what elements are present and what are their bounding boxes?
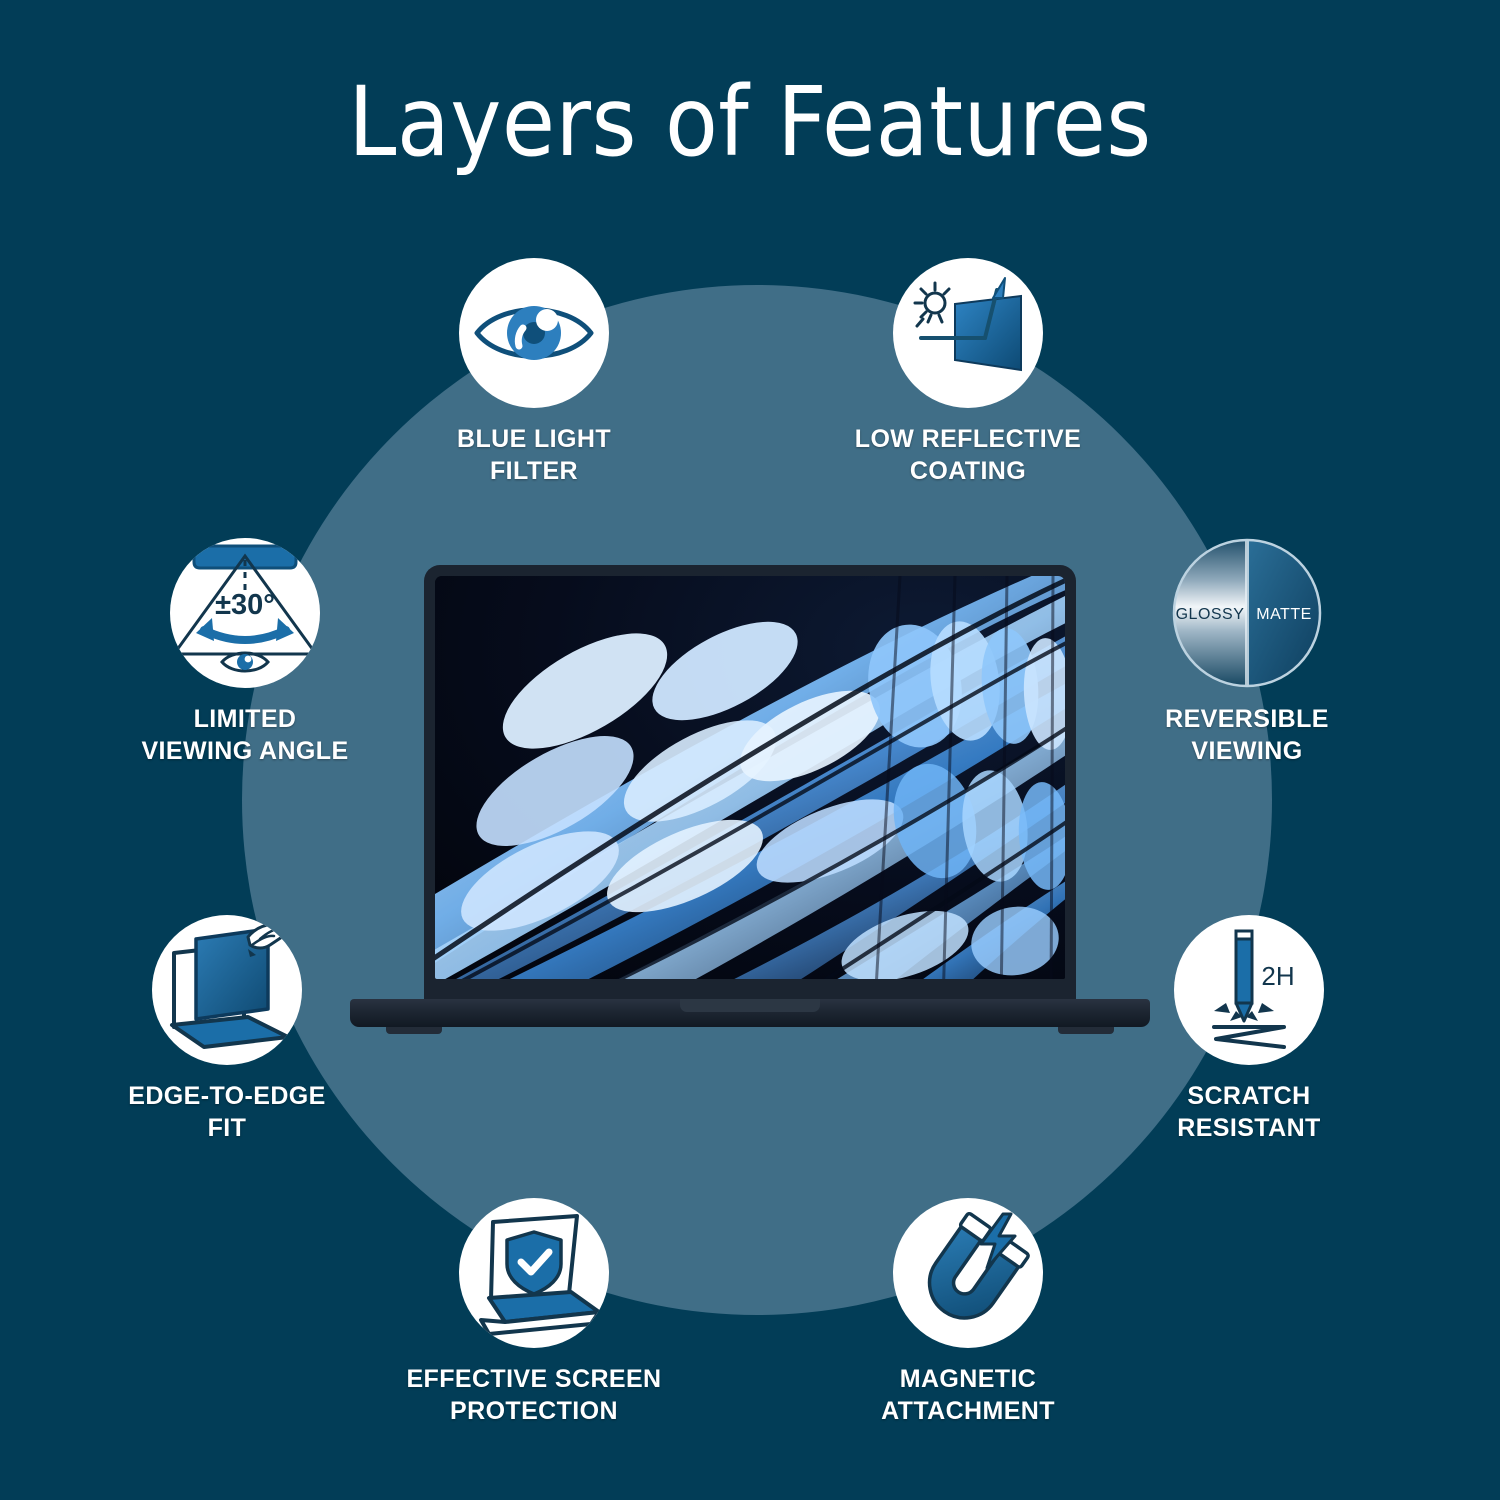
sun-reflection-screen-icon <box>893 258 1043 408</box>
glossy-label: GLOSSY <box>1176 606 1245 623</box>
feature-magnetic-attachment[interactable]: MAGNETIC ATTACHMENT <box>818 1198 1118 1427</box>
infographic-canvas: Layers of Features <box>0 0 1500 1500</box>
angle-value: ±30° <box>215 589 275 621</box>
badge-circle: GLOSSY MATTE <box>1172 538 1322 688</box>
feature-label: LIMITED VIEWING ANGLE <box>95 704 395 767</box>
hardness-value: 2H <box>1261 961 1294 991</box>
feature-label: EFFECTIVE SCREEN PROTECTION <box>384 1364 684 1427</box>
badge-circle <box>893 258 1043 408</box>
feature-label: LOW REFLECTIVE COATING <box>818 424 1118 487</box>
laptop-shield-check-icon <box>459 1198 609 1348</box>
matte-label: MATTE <box>1256 606 1312 623</box>
badge-circle <box>459 1198 609 1348</box>
page-title: Layers of Features <box>0 72 1500 173</box>
feature-edge-to-edge-fit[interactable]: EDGE-TO-EDGE FIT <box>77 915 377 1144</box>
laptop-trackpad-notch <box>680 999 820 1012</box>
glossy-matte-disc-icon: GLOSSY MATTE <box>1172 538 1322 688</box>
laptop-foot-left <box>386 1027 442 1034</box>
pencil-scratch-icon: 2H <box>1174 915 1324 1065</box>
horseshoe-magnet-icon <box>893 1198 1043 1348</box>
laptop-screen <box>435 576 1065 979</box>
badge-circle <box>893 1198 1043 1348</box>
wallpaper-blue-ribbon-fan <box>435 576 1065 979</box>
feature-label: MAGNETIC ATTACHMENT <box>818 1364 1118 1427</box>
feature-limited-viewing-angle[interactable]: ±30° LIMITED VIEWING ANGLE <box>95 538 395 767</box>
feature-scratch-resistant[interactable]: 2H SCRATCH RESISTANT <box>1099 915 1399 1144</box>
feature-low-reflective-coating[interactable]: LOW REFLECTIVE COATING <box>818 258 1118 487</box>
feature-blue-light-filter[interactable]: BLUE LIGHT FILTER <box>384 258 684 487</box>
feature-label: BLUE LIGHT FILTER <box>384 424 684 487</box>
badge-circle: 2H <box>1174 915 1324 1065</box>
badge-circle <box>152 915 302 1065</box>
viewing-cone-icon: ±30° <box>170 538 320 688</box>
laptop-lid <box>424 565 1076 1005</box>
hand-placing-filter-on-laptop-icon <box>152 915 302 1065</box>
badge-circle: ±30° <box>170 538 320 688</box>
badge-circle <box>459 258 609 408</box>
feature-label: SCRATCH RESISTANT <box>1099 1081 1399 1144</box>
feature-label: EDGE-TO-EDGE FIT <box>77 1081 377 1144</box>
feature-label: REVERSIBLE VIEWING <box>1097 704 1397 767</box>
eye-icon <box>459 258 609 408</box>
feature-effective-screen-protection[interactable]: EFFECTIVE SCREEN PROTECTION <box>384 1198 684 1427</box>
feature-reversible-viewing[interactable]: GLOSSY MATTE REVERSIBLE VIEWING <box>1097 538 1397 767</box>
product-laptop-image <box>350 565 1150 1065</box>
